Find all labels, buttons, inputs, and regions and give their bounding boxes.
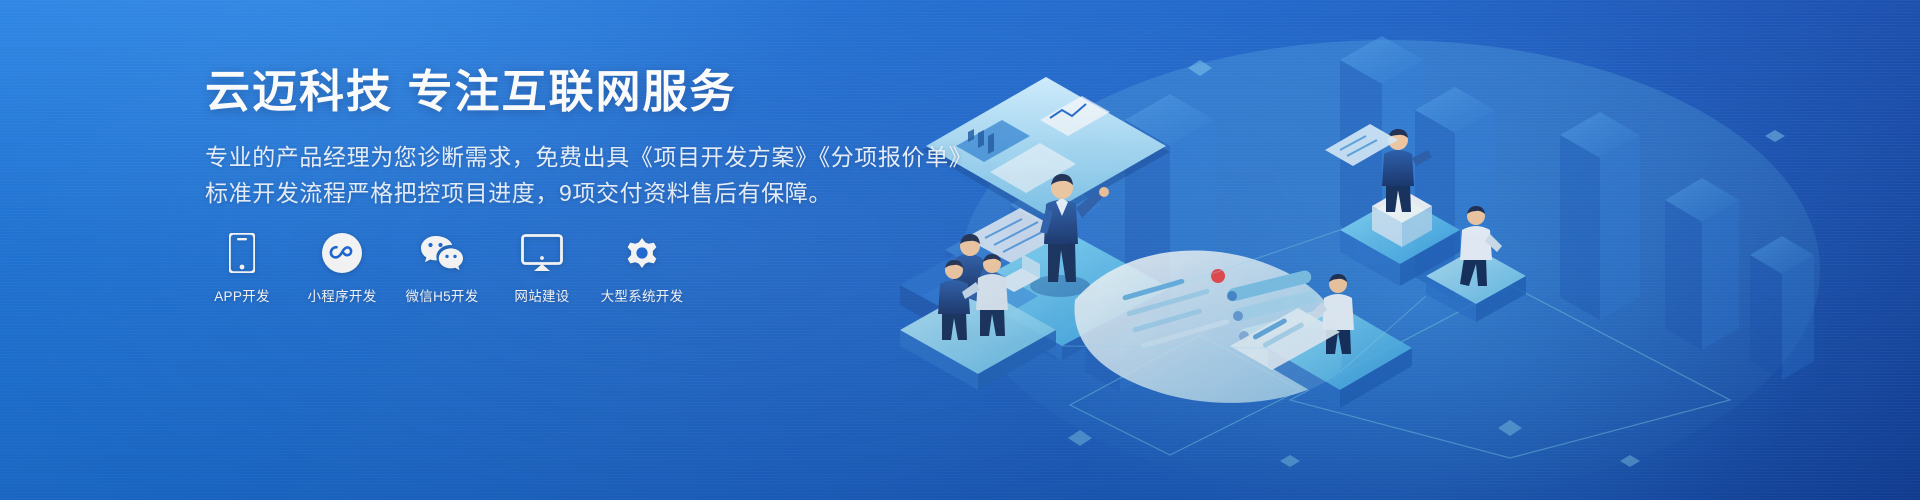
subtitle-line-2: 标准开发流程严格把控项目进度，9项交付资料售后有保障。 (205, 176, 965, 212)
service-label-app: APP开发 (214, 285, 270, 305)
isometric-tech-team-illustration (870, 0, 1920, 500)
gear-icon (622, 232, 662, 274)
subtitle-line-1: 专业的产品经理为您诊断需求，免费出具《项目开发方案》《分项报价单》 (205, 140, 965, 176)
service-item-large-system[interactable]: 大型系统开发 (605, 232, 679, 305)
hero-subtitle: 专业的产品经理为您诊断需求，免费出具《项目开发方案》《分项报价单》 标准开发流程… (205, 140, 965, 211)
mobile-phone-icon (229, 232, 255, 274)
mini-program-icon (322, 232, 362, 274)
service-label-wechat-h5: 微信H5开发 (405, 285, 478, 305)
hero-banner: 云迈科技 专注互联网服务 专业的产品经理为您诊断需求，免费出具《项目开发方案》《… (0, 0, 1920, 500)
monitor-icon (521, 232, 563, 274)
service-item-app[interactable]: APP开发 (205, 232, 279, 305)
service-label-website: 网站建设 (514, 285, 569, 305)
service-label-large-system: 大型系统开发 (601, 285, 684, 305)
service-label-miniprogram: 小程序开发 (308, 285, 377, 305)
page-title: 云迈科技 专注互联网服务 (205, 66, 965, 118)
service-item-miniprogram[interactable]: 小程序开发 (305, 232, 379, 305)
service-icon-list: APP开发 小程序开发 微信 (205, 232, 679, 305)
hero-copy: 云迈科技 专注互联网服务 专业的产品经理为您诊断需求，免费出具《项目开发方案》《… (205, 66, 965, 211)
service-item-website[interactable]: 网站建设 (505, 232, 579, 305)
wechat-icon (419, 232, 465, 274)
service-item-wechat-h5[interactable]: 微信H5开发 (405, 232, 479, 305)
